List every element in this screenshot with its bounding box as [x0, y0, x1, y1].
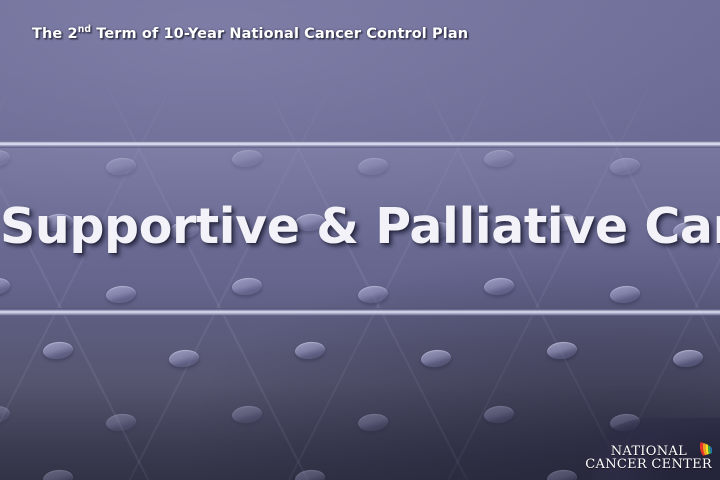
logo-line-national: NATIONAL	[611, 445, 687, 459]
header-prefix: The 2	[32, 26, 78, 42]
header-ordinal-superscript: nd	[78, 24, 91, 35]
logo-top-row: NATIONAL	[611, 439, 712, 458]
header-suffix: Term of 10-Year National Cancer Control …	[91, 26, 468, 42]
national-cancer-center-emblem-icon	[690, 439, 712, 457]
logo-line-cancer-center: CANCER CENTER	[585, 458, 712, 472]
presentation-slide: The 2nd Term of 10-Year National Cancer …	[0, 0, 720, 480]
national-cancer-center-logo: NATIONAL CANCER CENTER	[585, 439, 712, 472]
slide-header-subtitle: The 2nd Term of 10-Year National Cancer …	[32, 26, 468, 42]
slide-title: Supportive & Palliative Care	[0, 198, 720, 255]
